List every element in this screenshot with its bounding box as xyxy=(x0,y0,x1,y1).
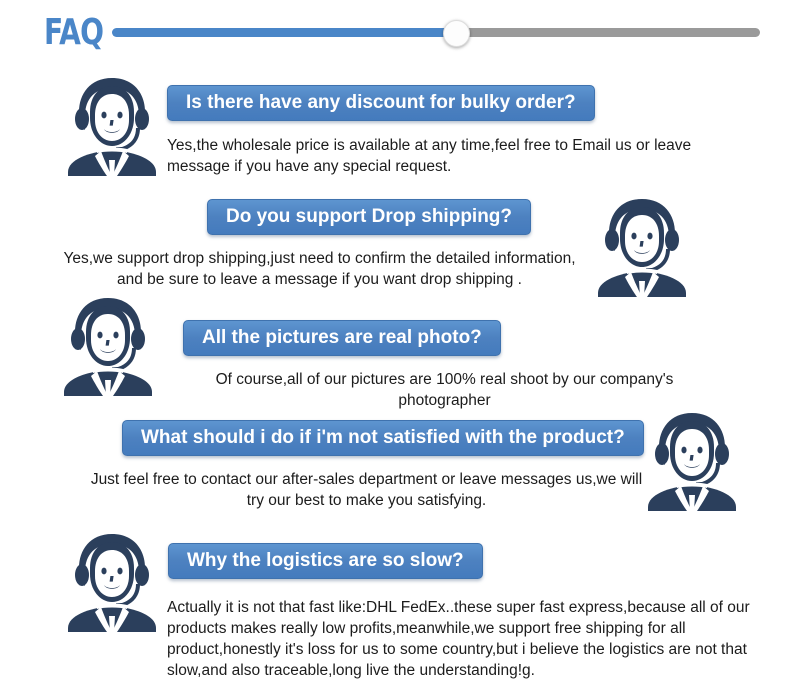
faq-question-1[interactable]: Is there have any discount for bulky ord… xyxy=(167,85,595,121)
faq-answer-1: Yes,the wholesale price is available at … xyxy=(167,135,747,177)
slider-track-remaining xyxy=(455,28,760,37)
faq-answer-4: Just feel free to contact our after-sale… xyxy=(84,469,649,511)
faq-answer-3: Of course,all of our pictures are 100% r… xyxy=(172,369,717,411)
support-agent-avatar-1 xyxy=(54,72,170,176)
slider-thumb[interactable] xyxy=(443,20,470,47)
support-agent-avatar-2 xyxy=(584,193,700,297)
faq-answer-5: Actually it is not that fast like:DHL Fe… xyxy=(167,597,779,681)
faq-question-3[interactable]: All the pictures are real photo? xyxy=(183,320,501,356)
faq-page: FAQ xyxy=(0,0,808,686)
page-header: FAQ xyxy=(0,0,808,66)
faq-question-2[interactable]: Do you support Drop shipping? xyxy=(207,199,531,235)
page-title: FAQ xyxy=(44,13,103,53)
support-agent-avatar-5 xyxy=(54,528,170,632)
faq-answer-2: Yes,we support drop shipping,just need t… xyxy=(62,248,577,290)
faq-question-5[interactable]: Why the logistics are so slow? xyxy=(168,543,483,579)
support-agent-avatar-4 xyxy=(634,407,750,511)
slider-track-filled xyxy=(112,28,455,37)
support-agent-avatar-3 xyxy=(50,292,166,396)
progress-slider[interactable] xyxy=(112,28,760,37)
faq-question-4[interactable]: What should i do if i'm not satisfied wi… xyxy=(122,420,644,456)
